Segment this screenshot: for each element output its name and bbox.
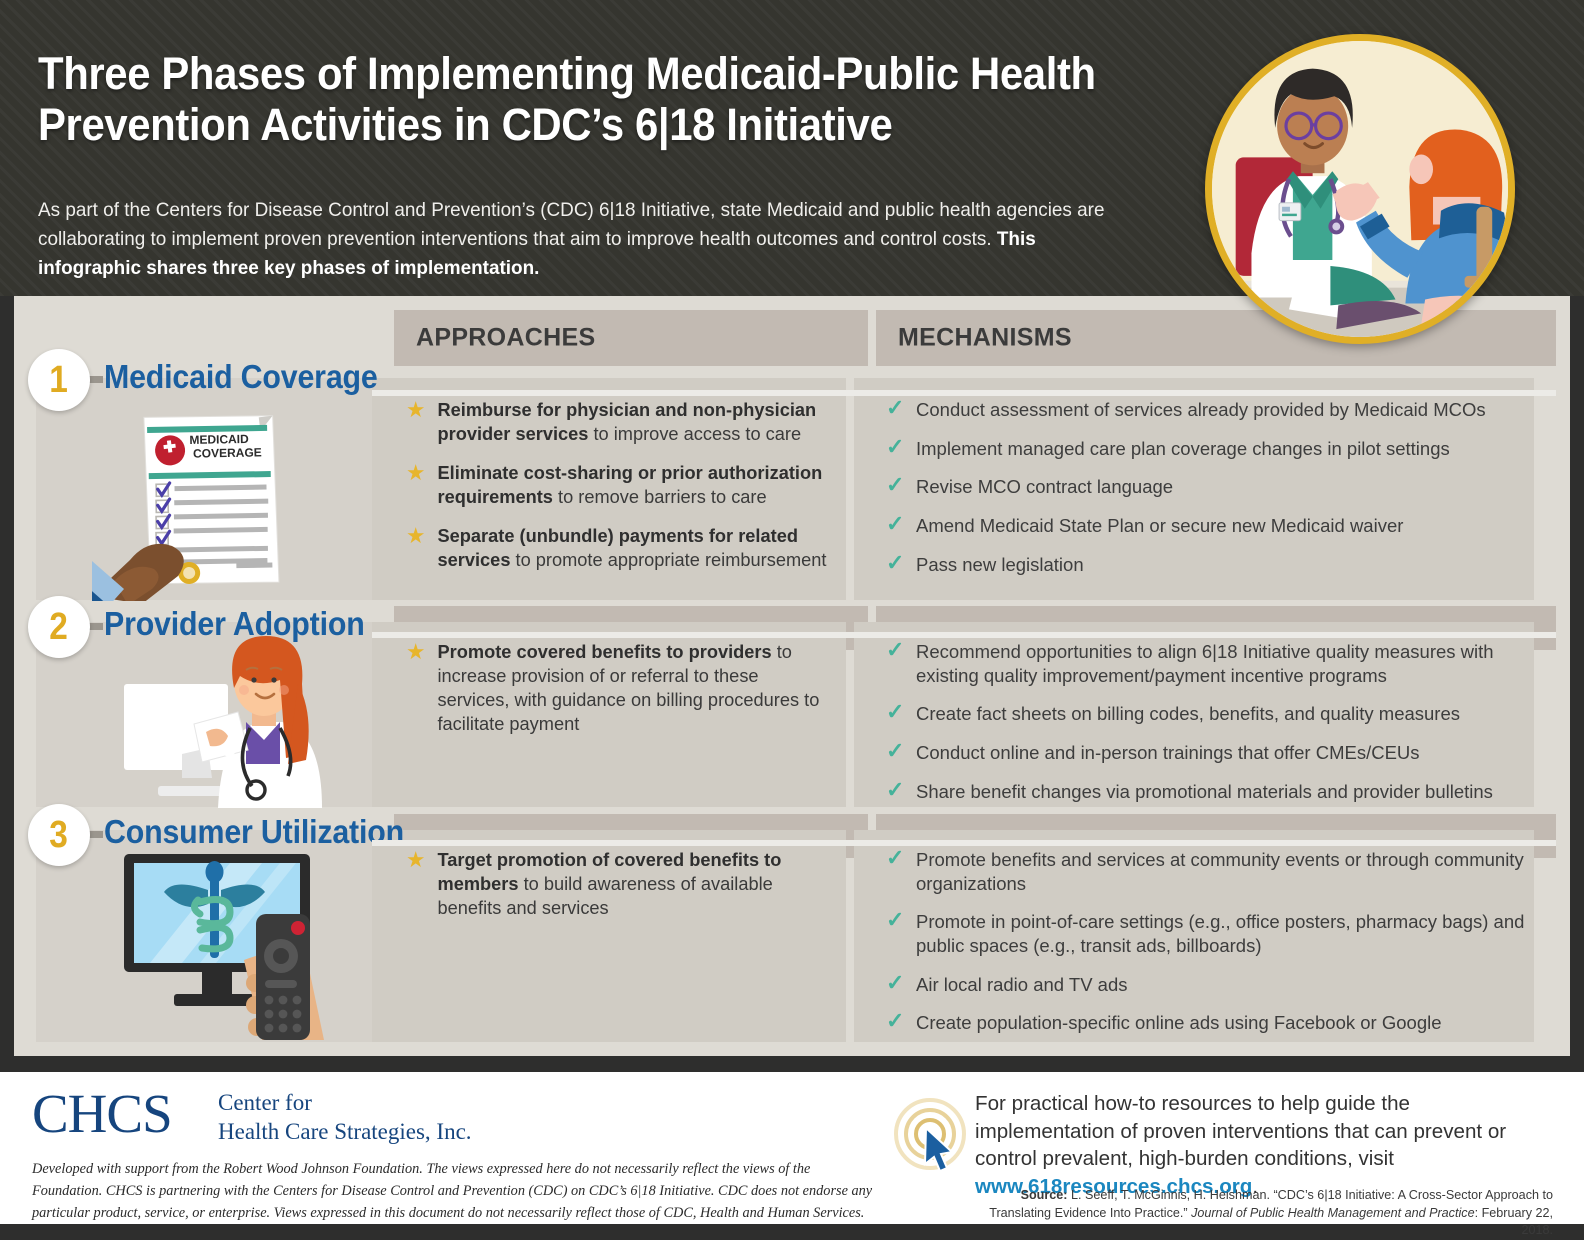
- phase-1-number-badge: 1: [28, 349, 90, 411]
- mechanism-text: Create fact sheets on billing codes, ben…: [916, 703, 1460, 724]
- chcs-logo-line-1: Center for: [218, 1089, 472, 1118]
- approach-bullet-rest: to promote appropriate reimbursement: [510, 549, 826, 570]
- check-icon: ✓: [886, 638, 904, 662]
- source-label: Source:: [1021, 1188, 1068, 1202]
- check-icon: ✓: [886, 435, 904, 459]
- source-journal: Journal of Public Health Management and …: [1191, 1206, 1475, 1220]
- mechanism-text: Pass new legislation: [916, 554, 1084, 575]
- phase-2-connector: [88, 623, 103, 630]
- phase-2-mechanisms-list: ✓Recommend opportunities to align 6|18 I…: [886, 640, 1536, 818]
- header-banner: Three Phases of Implementing Medicaid-Pu…: [0, 0, 1584, 296]
- phase-3-approaches-list: ★ Target promotion of covered benefits t…: [404, 848, 824, 935]
- medicaid-document-svg: MEDICAID COVERAGE: [92, 391, 342, 601]
- star-icon: ★: [406, 462, 425, 484]
- approach-bullet-bold: Promote covered benefits to providers: [437, 641, 771, 662]
- provider-computer-svg: [110, 636, 360, 808]
- column-header-approaches-label: APPROACHES: [416, 324, 595, 353]
- footer: CHCS Center for Health Care Strategies, …: [0, 1072, 1584, 1224]
- mechanism-text: Implement managed care plan coverage cha…: [916, 438, 1450, 459]
- check-icon: ✓: [886, 700, 904, 724]
- mechanism-text: Promote in point-of-care settings (e.g.,…: [916, 911, 1524, 956]
- approach-bullet: ★ Promote covered benefits to providers …: [404, 640, 828, 736]
- chcs-logo-line-2: Health Care Strategies, Inc.: [218, 1118, 472, 1147]
- phase-1-connector: [88, 376, 103, 383]
- title-line-2: Prevention Activities in CDC’s 6|18 Init…: [38, 99, 1117, 150]
- mechanism-bullet: ✓Share benefit changes via promotional m…: [886, 780, 1536, 804]
- svg-text:COVERAGE: COVERAGE: [193, 445, 262, 460]
- cta-text: For practical how-to resources to help g…: [975, 1090, 1553, 1200]
- check-icon: ✓: [886, 551, 904, 575]
- phase-3-number-badge: 3: [28, 804, 90, 866]
- phase-1-number: 1: [50, 361, 69, 399]
- target-cursor-svg: [892, 1096, 974, 1178]
- phase-1-approaches-list: ★ Reimburse for physician and non-physic…: [404, 398, 844, 587]
- subtitle-plain: As part of the Centers for Disease Contr…: [38, 199, 1104, 250]
- title-line-1: Three Phases of Implementing Medicaid-Pu…: [38, 48, 1117, 99]
- mechanism-text: Create population-specific online ads us…: [916, 1012, 1442, 1033]
- mechanism-text: Conduct online and in-person trainings t…: [916, 742, 1420, 763]
- phase-2-title-rule: [372, 632, 1556, 638]
- provider-computer-illustration: [110, 636, 360, 808]
- mechanism-bullet: ✓Conduct assessment of services already …: [886, 398, 1526, 422]
- phase-3-number: 3: [50, 816, 69, 854]
- svg-text:MEDICAID: MEDICAID: [189, 432, 249, 447]
- star-icon: ★: [406, 525, 425, 547]
- infographic-poster: Three Phases of Implementing Medicaid-Pu…: [0, 0, 1584, 1224]
- star-icon: ★: [406, 641, 425, 663]
- check-icon: ✓: [886, 908, 904, 932]
- mechanism-bullet: ✓Air local radio and TV ads: [886, 973, 1531, 997]
- phase-2-number-badge: 2: [28, 596, 90, 658]
- source-citation: Source: L. Seeff, T. McGinnis, H. Heishm…: [975, 1187, 1553, 1240]
- mechanism-text: Revise MCO contract language: [916, 476, 1173, 497]
- mechanism-bullet: ✓Pass new legislation: [886, 553, 1526, 577]
- approach-bullet: ★ Reimburse for physician and non-physic…: [404, 398, 837, 446]
- approach-bullet: ★ Separate (unbundle) payments for relat…: [404, 524, 837, 572]
- mechanism-text: Air local radio and TV ads: [916, 974, 1128, 995]
- approach-bullet: ★ Target promotion of covered benefits t…: [404, 848, 818, 920]
- mechanism-text: Conduct assessment of services already p…: [916, 399, 1486, 420]
- check-icon: ✓: [886, 971, 904, 995]
- column-header-mechanisms-label: MECHANISMS: [898, 324, 1072, 353]
- approach-bullet: ★ Eliminate cost-sharing or prior author…: [404, 461, 837, 509]
- mechanism-text: Promote benefits and services at communi…: [916, 849, 1524, 894]
- check-icon: ✓: [886, 473, 904, 497]
- phase-3-title: Consumer Utilization: [104, 813, 404, 851]
- mechanism-text: Share benefit changes via promotional ma…: [916, 781, 1493, 802]
- tv-remote-svg: [110, 848, 360, 1040]
- check-icon: ✓: [886, 739, 904, 763]
- funding-disclaimer: Developed with support from the Robert W…: [32, 1158, 882, 1224]
- medicaid-document-illustration: MEDICAID COVERAGE: [92, 391, 342, 601]
- chcs-logo: CHCS Center for Health Care Strategies, …: [32, 1086, 172, 1141]
- approach-bullet-rest: to remove barriers to care: [553, 486, 767, 507]
- check-icon: ✓: [886, 778, 904, 802]
- target-cursor-icon: [892, 1096, 974, 1178]
- mechanism-bullet: ✓Create fact sheets on billing codes, be…: [886, 702, 1536, 726]
- mechanism-bullet: ✓Implement managed care plan coverage ch…: [886, 437, 1526, 461]
- mechanism-bullet: ✓Conduct online and in-person trainings …: [886, 741, 1536, 765]
- column-header-mechanisms: MECHANISMS: [876, 310, 1556, 366]
- phase-1-title-rule: [372, 390, 1556, 396]
- chcs-logo-subtitle: Center for Health Care Strategies, Inc.: [218, 1089, 472, 1147]
- mechanism-bullet: ✓Amend Medicaid State Plan or secure new…: [886, 514, 1526, 538]
- mechanism-bullet: ✓Promote in point-of-care settings (e.g.…: [886, 910, 1531, 957]
- check-icon: ✓: [886, 396, 904, 420]
- mechanism-bullet: ✓Revise MCO contract language: [886, 475, 1526, 499]
- phase-3-connector: [88, 831, 103, 838]
- doctor-patient-illustration: [1205, 34, 1515, 344]
- phases-board: APPROACHES MECHANISMS 1 Medicaid Coverag…: [14, 296, 1570, 1056]
- phase-3-mechanisms-list: ✓Promote benefits and services at commun…: [886, 848, 1531, 1050]
- mechanism-bullet: ✓Recommend opportunities to align 6|18 I…: [886, 640, 1536, 687]
- header-subtitle: As part of the Centers for Disease Contr…: [38, 196, 1144, 283]
- phase-1-mechanisms-list: ✓Conduct assessment of services already …: [886, 398, 1526, 591]
- check-icon: ✓: [886, 512, 904, 536]
- tv-remote-illustration: [110, 848, 360, 1040]
- phase-3-title-rule: [372, 840, 1556, 846]
- star-icon: ★: [406, 849, 425, 871]
- check-icon: ✓: [886, 1009, 904, 1033]
- source-date: : February 22, 2018.: [1475, 1206, 1553, 1238]
- phase-2-number: 2: [50, 608, 69, 646]
- approach-bullet-rest: to improve access to care: [588, 423, 801, 444]
- chcs-logo-mark: CHCS: [32, 1086, 172, 1141]
- mechanism-bullet: ✓Promote benefits and services at commun…: [886, 848, 1531, 895]
- star-icon: ★: [406, 399, 425, 421]
- column-header-approaches: APPROACHES: [394, 310, 868, 366]
- phase-2-approaches-list: ★ Promote covered benefits to providers …: [404, 640, 834, 751]
- mechanism-text: Amend Medicaid State Plan or secure new …: [916, 515, 1403, 536]
- mechanism-bullet: ✓Create population-specific online ads u…: [886, 1011, 1531, 1035]
- cta-copy: For practical how-to resources to help g…: [975, 1092, 1506, 1170]
- check-icon: ✓: [886, 846, 904, 870]
- doctor-patient-svg: [1212, 41, 1508, 337]
- mechanism-text: Recommend opportunities to align 6|18 In…: [916, 641, 1494, 686]
- page-title: Three Phases of Implementing Medicaid-Pu…: [38, 48, 1117, 151]
